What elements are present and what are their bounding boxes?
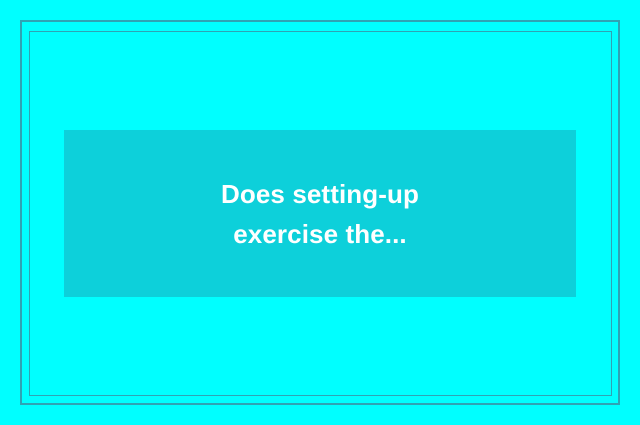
headline-panel: Does setting-up exercise the... (64, 130, 576, 297)
headline-line-1: Does setting-up (221, 174, 419, 214)
card-canvas: Does setting-up exercise the... (0, 0, 640, 425)
headline-line-2: exercise the... (233, 214, 407, 254)
